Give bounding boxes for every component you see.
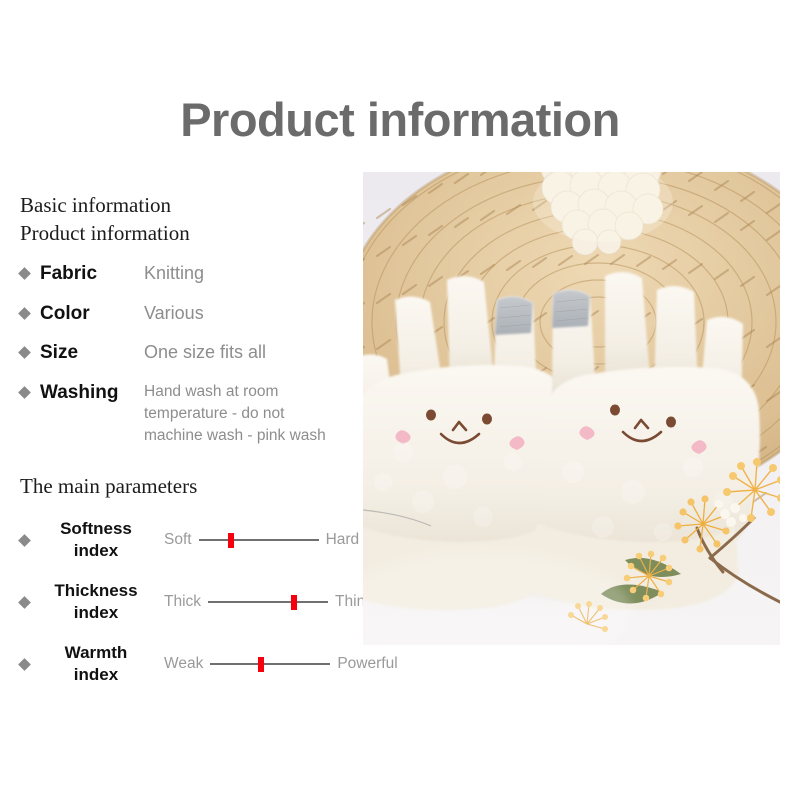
parameter-label-line2: index bbox=[74, 665, 118, 684]
parameter-row-thickness: Thickness index Thick Thin bbox=[20, 579, 360, 625]
touchscreen-fingertip bbox=[495, 297, 533, 335]
thickness-slider[interactable]: Thick Thin bbox=[164, 593, 365, 611]
parameter-list: Softness index Soft Hard Thickness index… bbox=[20, 517, 360, 687]
slider-track-line bbox=[208, 601, 328, 603]
diamond-bullet-icon bbox=[18, 534, 31, 547]
diamond-bullet-icon bbox=[18, 346, 31, 359]
product-info-column: Basic information Product information Fa… bbox=[20, 192, 360, 687]
parameter-label-line1: Thickness bbox=[54, 581, 137, 600]
spec-row-size: Size One size fits all bbox=[20, 341, 360, 365]
parameter-label-line1: Softness bbox=[60, 519, 132, 538]
diamond-bullet-icon bbox=[18, 307, 31, 320]
spec-label-size: Size bbox=[40, 341, 144, 365]
thickness-slider-marker[interactable] bbox=[291, 595, 297, 610]
parameter-label-line2: index bbox=[74, 603, 118, 622]
spec-label-fabric: Fabric bbox=[40, 262, 144, 286]
warmth-slider-left-label: Weak bbox=[164, 655, 203, 673]
warmth-slider[interactable]: Weak Powerful bbox=[164, 655, 398, 673]
product-photo bbox=[363, 172, 780, 645]
diamond-bullet-icon bbox=[18, 267, 31, 280]
spec-label-color: Color bbox=[40, 302, 144, 326]
product-information-heading: Product information bbox=[20, 220, 360, 248]
softness-slider-track[interactable] bbox=[199, 532, 319, 548]
spec-value-fabric: Knitting bbox=[144, 262, 360, 286]
main-parameters-heading: The main parameters bbox=[20, 473, 360, 501]
slider-track-line bbox=[199, 539, 319, 541]
touchscreen-fingertip bbox=[552, 290, 590, 328]
thickness-slider-right-label: Thin bbox=[335, 593, 365, 611]
diamond-bullet-icon bbox=[18, 658, 31, 671]
diamond-bullet-icon bbox=[18, 596, 31, 609]
warmth-slider-marker[interactable] bbox=[258, 657, 264, 672]
parameter-label-line2: index bbox=[74, 541, 118, 560]
parameter-row-softness: Softness index Soft Hard bbox=[20, 517, 360, 563]
thickness-slider-track[interactable] bbox=[208, 594, 328, 610]
diamond-bullet-icon bbox=[18, 386, 31, 399]
parameter-label-line1: Warmth bbox=[65, 643, 128, 662]
slider-track-line bbox=[210, 663, 330, 665]
basic-information-heading: Basic information bbox=[20, 192, 360, 220]
parameter-label-warmth: Warmth index bbox=[40, 642, 152, 686]
spec-row-color: Color Various bbox=[20, 302, 360, 326]
thickness-slider-left-label: Thick bbox=[164, 593, 201, 611]
spec-value-size: One size fits all bbox=[144, 341, 360, 365]
spec-row-fabric: Fabric Knitting bbox=[20, 262, 360, 286]
warmth-slider-right-label: Powerful bbox=[337, 655, 397, 673]
page-title: Product information bbox=[0, 92, 800, 147]
parameter-label-thickness: Thickness index bbox=[40, 580, 152, 624]
softness-slider[interactable]: Soft Hard bbox=[164, 531, 360, 549]
specification-list: Fabric Knitting Color Various Size One s… bbox=[20, 262, 360, 447]
warmth-slider-track[interactable] bbox=[210, 656, 330, 672]
softness-slider-left-label: Soft bbox=[164, 531, 192, 549]
spec-row-washing: Washing Hand wash at room temperature - … bbox=[20, 381, 360, 447]
softness-slider-right-label: Hard bbox=[326, 531, 360, 549]
spec-label-washing: Washing bbox=[40, 381, 144, 405]
spec-value-washing: Hand wash at room temperature - do not m… bbox=[144, 381, 334, 447]
parameter-row-warmth: Warmth index Weak Powerful bbox=[20, 641, 360, 687]
product-photo-illustration bbox=[363, 172, 780, 645]
spec-value-color: Various bbox=[144, 302, 360, 326]
parameter-label-softness: Softness index bbox=[40, 518, 152, 562]
softness-slider-marker[interactable] bbox=[228, 533, 234, 548]
